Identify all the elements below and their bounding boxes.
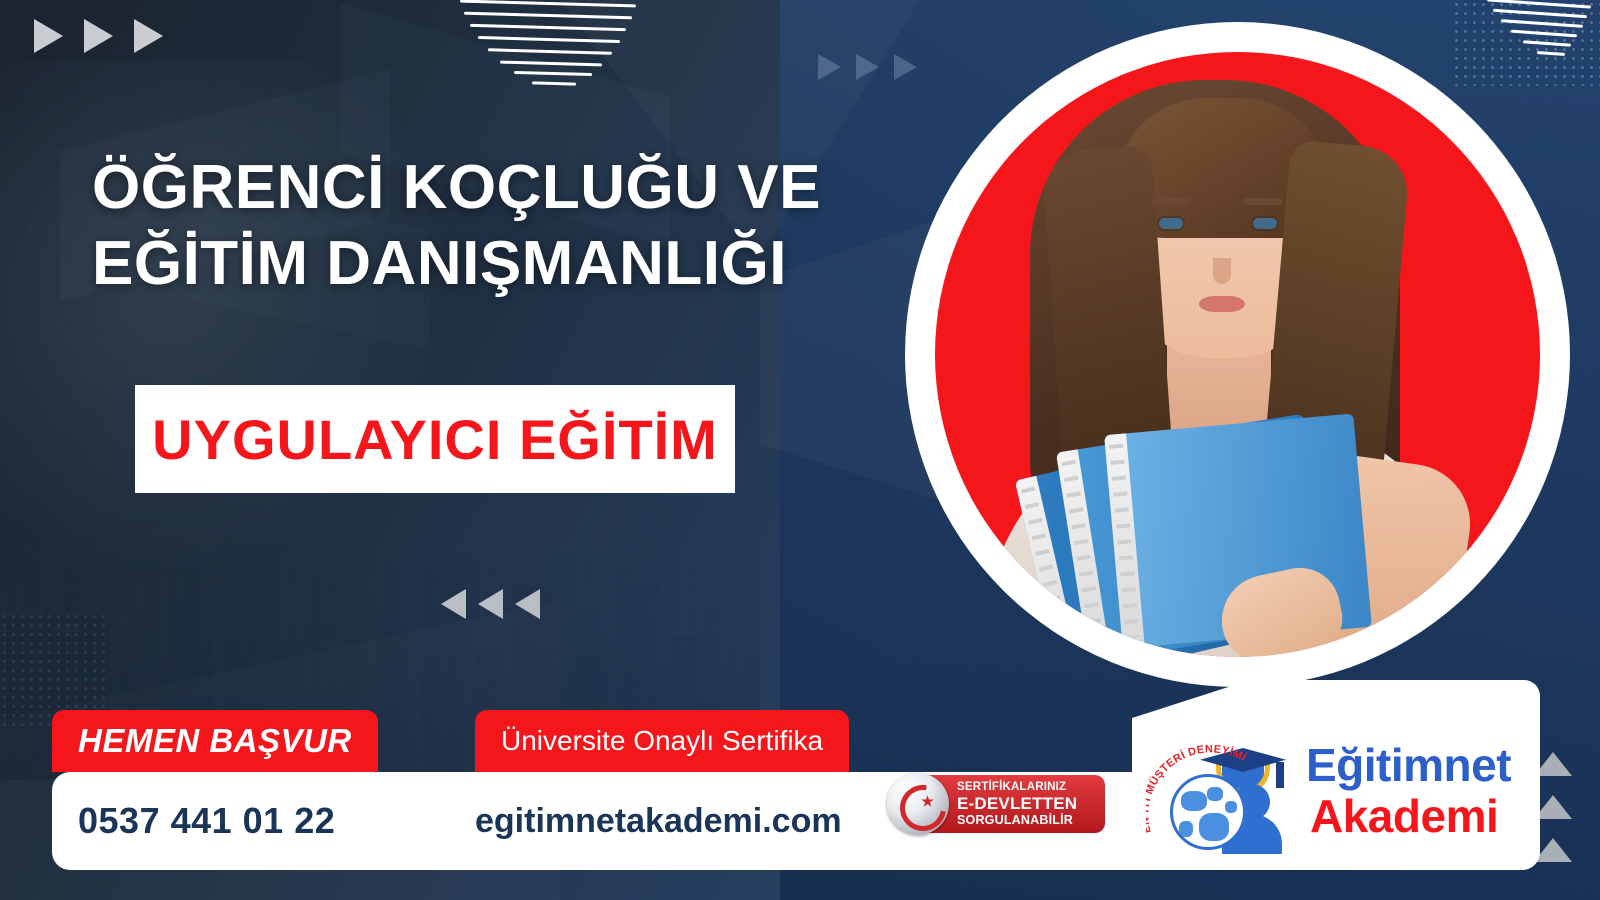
logo-word-top: Eğitimnet: [1306, 742, 1511, 788]
arrow-triangle-left-1: [441, 589, 466, 619]
edevlet-line-2: E-DEVLETTEN: [957, 794, 1077, 813]
star-icon: [921, 795, 934, 808]
arrow-triangle-right-2: [84, 19, 113, 53]
website-url[interactable]: egitimnetakademi.com: [475, 790, 842, 852]
edevlet-badge: SERTİFİKALARINIZ E-DEVLETTEN SORGULANABİ…: [905, 775, 1105, 833]
highlight-text: UYGULAYICI EĞİTİM: [152, 407, 718, 472]
edevlet-line-1: SERTİFİKALARINIZ: [957, 781, 1077, 794]
headline-line-2: EĞİTİM DANIŞMANLIĞI: [92, 226, 852, 302]
arrow-triangle-faint-3: [894, 54, 917, 80]
edevlet-logo-icon: [887, 773, 949, 835]
arrow-triangle-right-3: [134, 19, 163, 53]
apply-now-button[interactable]: HEMEN BAŞVUR: [52, 710, 378, 772]
arrow-triangle-left-2: [478, 589, 503, 619]
headline-line-1: ÖĞRENCİ KOÇLUĞU VE: [92, 150, 852, 226]
globe-icon: [1170, 774, 1246, 850]
logo-wordmark: Eğitimnet Akademi: [1306, 742, 1511, 840]
student-portrait: [935, 52, 1540, 657]
headline: ÖĞRENCİ KOÇLUĞU VE EĞİTİM DANIŞMANLIĞI: [92, 150, 852, 301]
highlight-badge: UYGULAYICI EĞİTİM: [135, 385, 735, 493]
arrow-triangle-faint-1: [818, 54, 841, 80]
logo-mark: EN İYİ MÜŞTERİ DENEYİMİ: [1146, 732, 1296, 856]
edevlet-line-3: SORGULANABİLİR: [957, 813, 1077, 827]
arrow-triangle-faint-2: [856, 54, 879, 80]
arrow-triangle-right-1: [34, 19, 63, 53]
brand-logo: EN İYİ MÜŞTERİ DENEYİMİ Eğitimnet Akadem…: [1132, 718, 1540, 870]
certificate-label: Üniversite Onaylı Sertifika: [501, 725, 823, 757]
logo-word-bottom: Akademi: [1306, 792, 1511, 840]
line-fan-top-center: [440, 0, 640, 92]
certificate-badge: Üniversite Onaylı Sertifika: [475, 710, 849, 772]
apply-now-label: HEMEN BAŞVUR: [78, 722, 352, 760]
phone-number[interactable]: 0537 441 01 22: [78, 790, 335, 852]
line-fan-top-right: [1495, 0, 1600, 60]
promo-banner: ÖĞRENCİ KOÇLUĞU VE EĞİTİM DANIŞMANLIĞI U…: [0, 0, 1600, 900]
arrow-triangle-left-3: [515, 589, 540, 619]
